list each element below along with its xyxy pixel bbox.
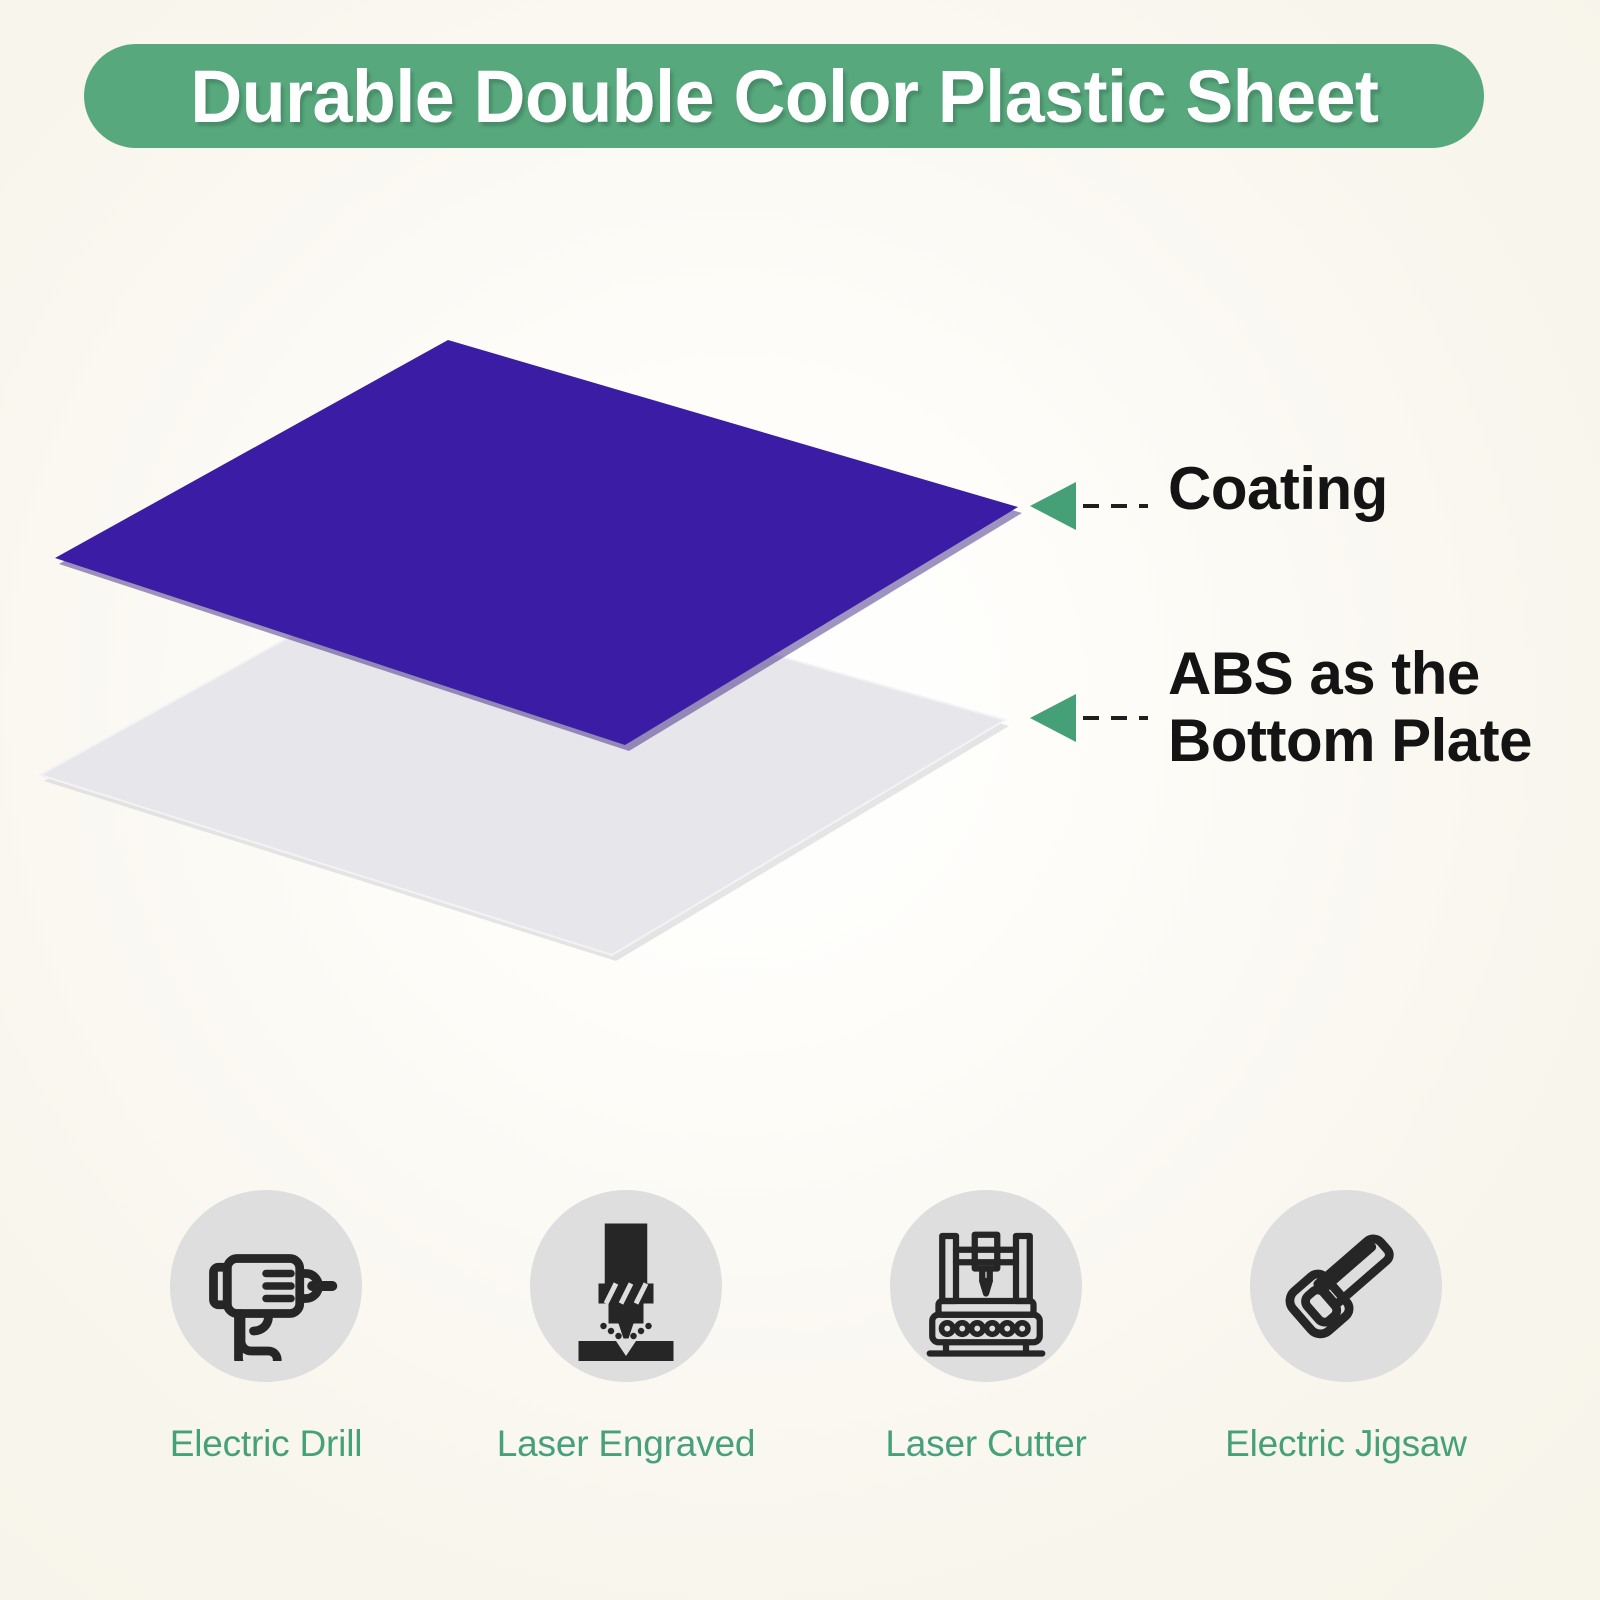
abs-callout [1030, 694, 1148, 742]
abs-arrow-icon [1030, 694, 1076, 742]
feature-laser-cutter: Laser Cutter [816, 1190, 1156, 1465]
product-infographic: Durable Double Color Plastic Sheet Coati… [0, 0, 1600, 1600]
feature-electric-drill: Electric Drill [96, 1190, 436, 1465]
feature-icon-row: Electric Drill [96, 1190, 1516, 1465]
feature-circle [890, 1190, 1082, 1382]
abs-label-line-2: Bottom Plate [1168, 707, 1568, 774]
coating-label: Coating [1168, 455, 1388, 522]
feature-label: Laser Cutter [885, 1423, 1086, 1465]
feature-label: Electric Jigsaw [1225, 1423, 1467, 1465]
abs-label-line-1: ABS as the [1168, 640, 1480, 707]
feature-laser-engraved: Laser Engraved [456, 1190, 796, 1465]
coating-callout [1030, 482, 1148, 530]
feature-electric-jigsaw: Electric Jigsaw [1176, 1190, 1516, 1465]
laser-engraver-icon [551, 1211, 701, 1361]
feature-circle [530, 1190, 722, 1382]
abs-bottom-plate-label: ABS as the Bottom Plate [1168, 640, 1568, 774]
laser-cutter-icon [911, 1211, 1061, 1361]
drill-vent-lines [266, 1274, 291, 1299]
laser-cutter-rollers [942, 1323, 1029, 1335]
electric-jigsaw-icon [1271, 1211, 1421, 1361]
electric-drill-icon [191, 1211, 341, 1361]
feature-circle [1250, 1190, 1442, 1382]
feature-circle [170, 1190, 362, 1382]
feature-label: Electric Drill [170, 1423, 362, 1465]
coating-arrow-icon [1030, 482, 1076, 530]
feature-label: Laser Engraved [497, 1423, 755, 1465]
